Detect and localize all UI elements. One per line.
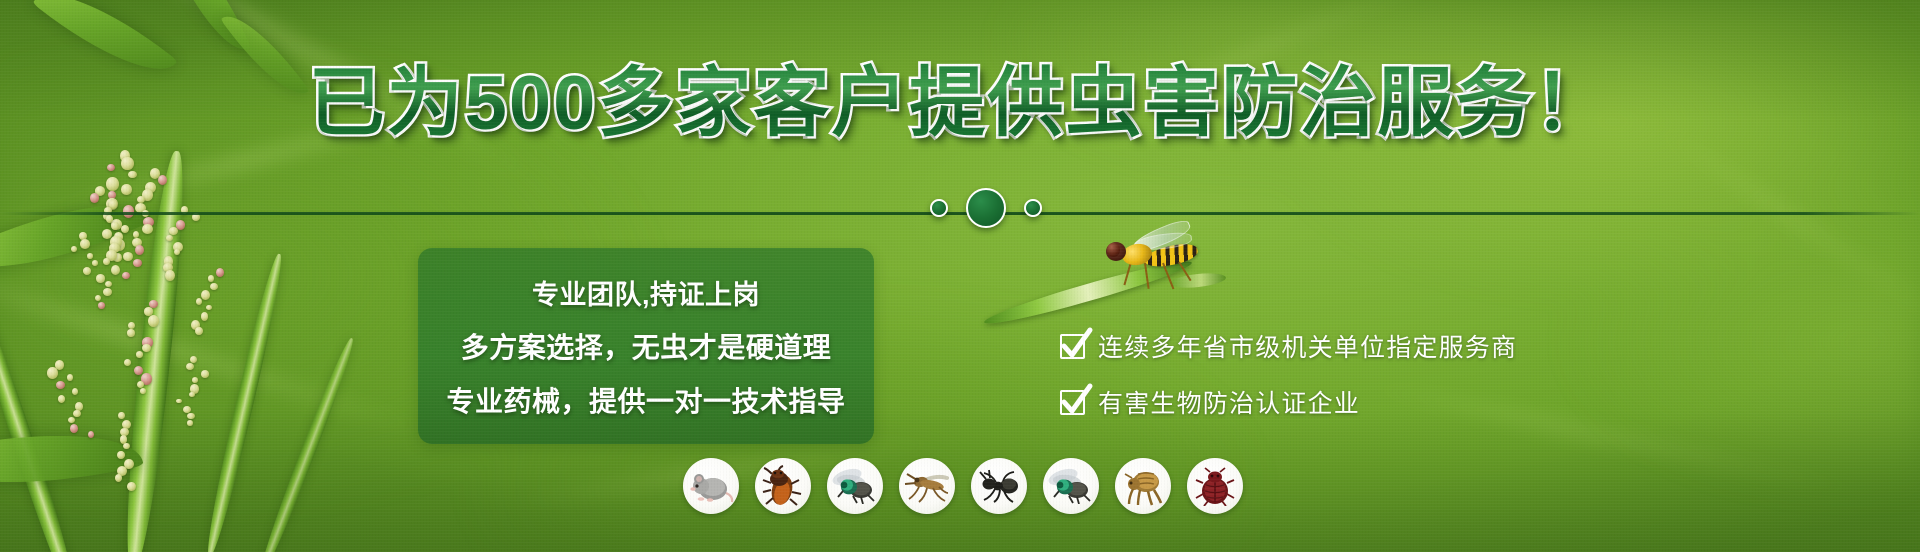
- plant-bud: [72, 388, 78, 395]
- hoverfly-on-grass-blade: [980, 232, 1230, 342]
- plant-bud: [187, 420, 193, 426]
- plant-bud: [206, 305, 212, 310]
- decor-dot-large-center: [966, 188, 1006, 228]
- ant-icon: [971, 458, 1027, 514]
- plant-bud: [47, 367, 58, 379]
- feature-bullet-1-label: 连续多年省市级机关单位指定服务商: [1098, 328, 1517, 364]
- plant-bud: [123, 252, 133, 261]
- plant-bud: [201, 370, 210, 378]
- plant-bud: [127, 482, 136, 492]
- plant-bud: [136, 351, 143, 357]
- hoverfly-leg: [1144, 263, 1150, 289]
- plant-bud: [83, 267, 91, 275]
- plant-bud: [158, 175, 167, 185]
- cockroach-icon: [755, 458, 811, 514]
- bedbug-icon: [1187, 458, 1243, 514]
- plant-bud: [127, 329, 134, 336]
- plant-bud: [137, 196, 145, 203]
- plant-bud: [148, 315, 159, 327]
- plant-bud: [186, 363, 194, 370]
- plant-bud: [70, 424, 78, 433]
- plant-bud: [115, 474, 122, 482]
- plant-bud: [176, 399, 182, 404]
- plant-bud: [201, 290, 210, 300]
- decor-dot-small-left: [930, 199, 948, 217]
- mosquito-icon: [899, 458, 955, 514]
- plant-bud: [58, 395, 65, 403]
- hoverfly-leg: [1123, 262, 1132, 286]
- plant-bud: [90, 193, 100, 203]
- plant-bud: [67, 374, 73, 381]
- plant-bud: [80, 239, 90, 249]
- hoverfly-leg: [1178, 261, 1191, 281]
- plant-bud: [103, 258, 110, 266]
- plant-bud: [124, 359, 132, 366]
- plant-bud: [121, 157, 133, 171]
- plant-bud: [121, 225, 129, 233]
- plant-bud: [135, 245, 144, 255]
- plant-bud: [92, 260, 98, 266]
- plant-bud: [96, 274, 106, 283]
- mouse-icon: [683, 458, 739, 514]
- plant-bud: [87, 253, 93, 258]
- hoverfly-icon: [1100, 230, 1210, 292]
- plant-bud: [208, 275, 214, 281]
- pest-icon-row: [683, 458, 1243, 514]
- feature-bullet-1: 连续多年省市级机关单位指定服务商: [1060, 328, 1517, 364]
- plant-bud: [95, 295, 101, 301]
- decor-dot-group: [930, 188, 1042, 228]
- plant-bud: [103, 288, 112, 296]
- checkbox-checked-icon: [1060, 334, 1085, 359]
- plant-bud: [192, 377, 199, 383]
- plant-branch: [256, 336, 359, 552]
- plant-bud: [142, 224, 153, 234]
- plant-bud: [106, 177, 118, 191]
- info-line-3: 专业药械，提供一对一技术指导: [446, 380, 845, 420]
- plant-bud: [189, 392, 195, 398]
- plant-bud: [140, 388, 146, 394]
- plant-branch: [201, 252, 287, 552]
- plant-bud: [122, 272, 130, 279]
- plant-bud: [73, 410, 81, 418]
- plant-bud: [183, 406, 191, 413]
- plant-bud: [98, 302, 105, 308]
- plant-bud: [118, 412, 125, 419]
- info-line-1: 专业团队,持证上岗: [532, 273, 760, 312]
- pest-control-banner: 已为500多家客户提供虫害防治服务！ 已为500多家客户提供虫害防治服务！ 专业…: [0, 0, 1920, 552]
- plant-bud: [117, 451, 124, 459]
- hoverfly-eye: [1107, 243, 1120, 257]
- plant-bud: [121, 184, 132, 195]
- plant-bud: [133, 259, 142, 267]
- plant-bud: [216, 268, 224, 277]
- plant-bud: [107, 164, 115, 171]
- info-line-2: 多方案选择，无虫才是硬道理: [461, 326, 832, 366]
- plant-bud: [137, 381, 144, 388]
- feature-bullet-list: 连续多年省市级机关单位指定服务商 有害生物防治认证企业: [1060, 328, 1517, 420]
- checkbox-checked-icon: [1060, 390, 1085, 415]
- plant-bud: [128, 322, 135, 329]
- plant-bud: [68, 417, 75, 423]
- info-panel: 专业团队,持证上岗 多方案选择，无虫才是硬道理 专业药械，提供一对一技术指导: [418, 248, 874, 444]
- plant-bud: [201, 312, 208, 320]
- plant-bud: [105, 281, 112, 287]
- decor-dot-small-right: [1024, 199, 1042, 217]
- plant-bud: [111, 222, 119, 230]
- blowfly-icon: [1043, 458, 1099, 514]
- headline: 已为500多家客户提供虫害防治服务！: [0, 62, 1920, 146]
- plant-bud: [111, 265, 120, 276]
- flea-icon: [1115, 458, 1171, 514]
- plant-bud: [187, 413, 194, 419]
- hoverfly-leg: [1162, 263, 1174, 290]
- plant-bud: [166, 235, 173, 241]
- feature-bullet-2-label: 有害生物防治认证企业: [1098, 384, 1360, 420]
- fly-icon: [827, 458, 883, 514]
- plant-bud: [123, 443, 129, 449]
- plant-bud: [56, 381, 65, 389]
- feature-bullet-2: 有害生物防治认证企业: [1060, 384, 1517, 420]
- plant-bud: [195, 327, 203, 335]
- plant-bud: [210, 283, 218, 290]
- plant-bud: [71, 246, 77, 252]
- plant-bud: [128, 171, 137, 179]
- plant-bud: [196, 298, 202, 305]
